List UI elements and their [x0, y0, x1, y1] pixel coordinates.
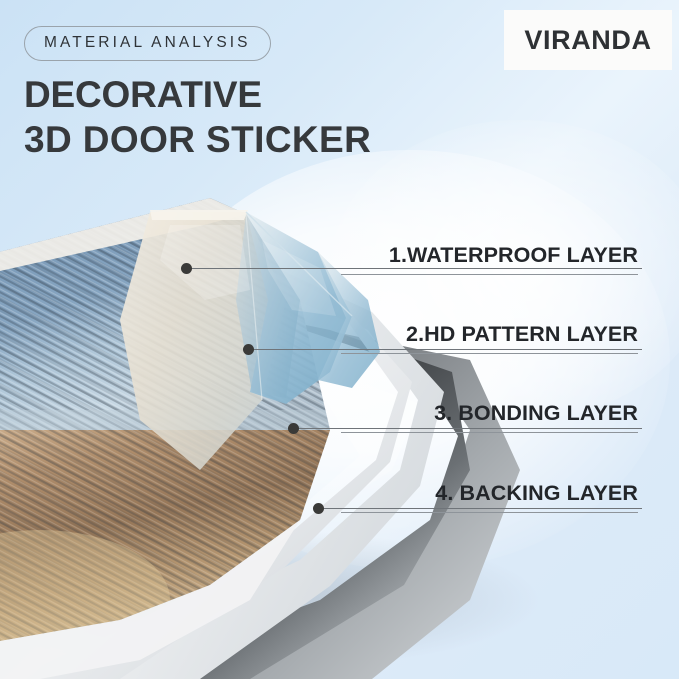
- callout-label-4: 4. BACKING LAYER: [435, 481, 638, 506]
- callout-rule-1: [341, 274, 638, 275]
- page-title-line-2: 3D DOOR STICKER: [24, 117, 371, 162]
- callout-dot-2: [243, 344, 254, 355]
- page-title-line-1: DECORATIVE: [24, 72, 371, 117]
- infographic-canvas: MATERIAL ANALYSIS DECORATIVE 3D DOOR STI…: [0, 0, 679, 679]
- callout-dot-3: [288, 423, 299, 434]
- callout-leader-4: [322, 508, 642, 509]
- page-title: DECORATIVE 3D DOOR STICKER: [24, 72, 371, 162]
- callout-dot-1: [181, 263, 192, 274]
- callout-label-2: 2.HD PATTERN LAYER: [406, 322, 638, 347]
- callout-rule-3: [341, 432, 638, 433]
- callout-dot-4: [313, 503, 324, 514]
- callout-label-3: 3. BONDING LAYER: [434, 401, 638, 426]
- eyebrow-badge: MATERIAL ANALYSIS: [24, 26, 271, 61]
- callout-label-1: 1.WATERPROOF LAYER: [389, 243, 638, 268]
- callout-leader-3: [297, 428, 642, 429]
- callout-leader-2: [252, 349, 642, 350]
- callout-rule-2: [341, 353, 638, 354]
- brand-logo: VIRANDA: [504, 10, 672, 70]
- brand-logo-text: VIRANDA: [524, 25, 651, 56]
- callout-leader-1: [190, 268, 642, 269]
- callout-rule-4: [341, 512, 638, 513]
